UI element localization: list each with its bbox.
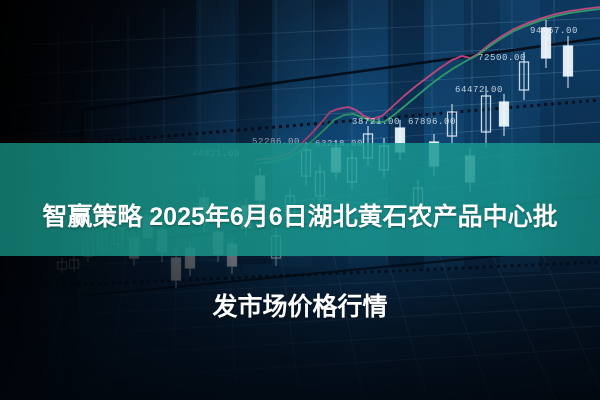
page-title: 智赢策略 2025年6月6日湖北黄石农产品中心批 发市场价格行情 bbox=[0, 150, 600, 375]
price-quote-banner: 94567.0072500.0064472.0067896.0038721.00… bbox=[0, 0, 600, 400]
headline-line-2: 发市场价格行情 bbox=[0, 285, 600, 330]
headline-line-1: 智赢策略 2025年6月6日湖北黄石农产品中心批 bbox=[0, 195, 600, 240]
